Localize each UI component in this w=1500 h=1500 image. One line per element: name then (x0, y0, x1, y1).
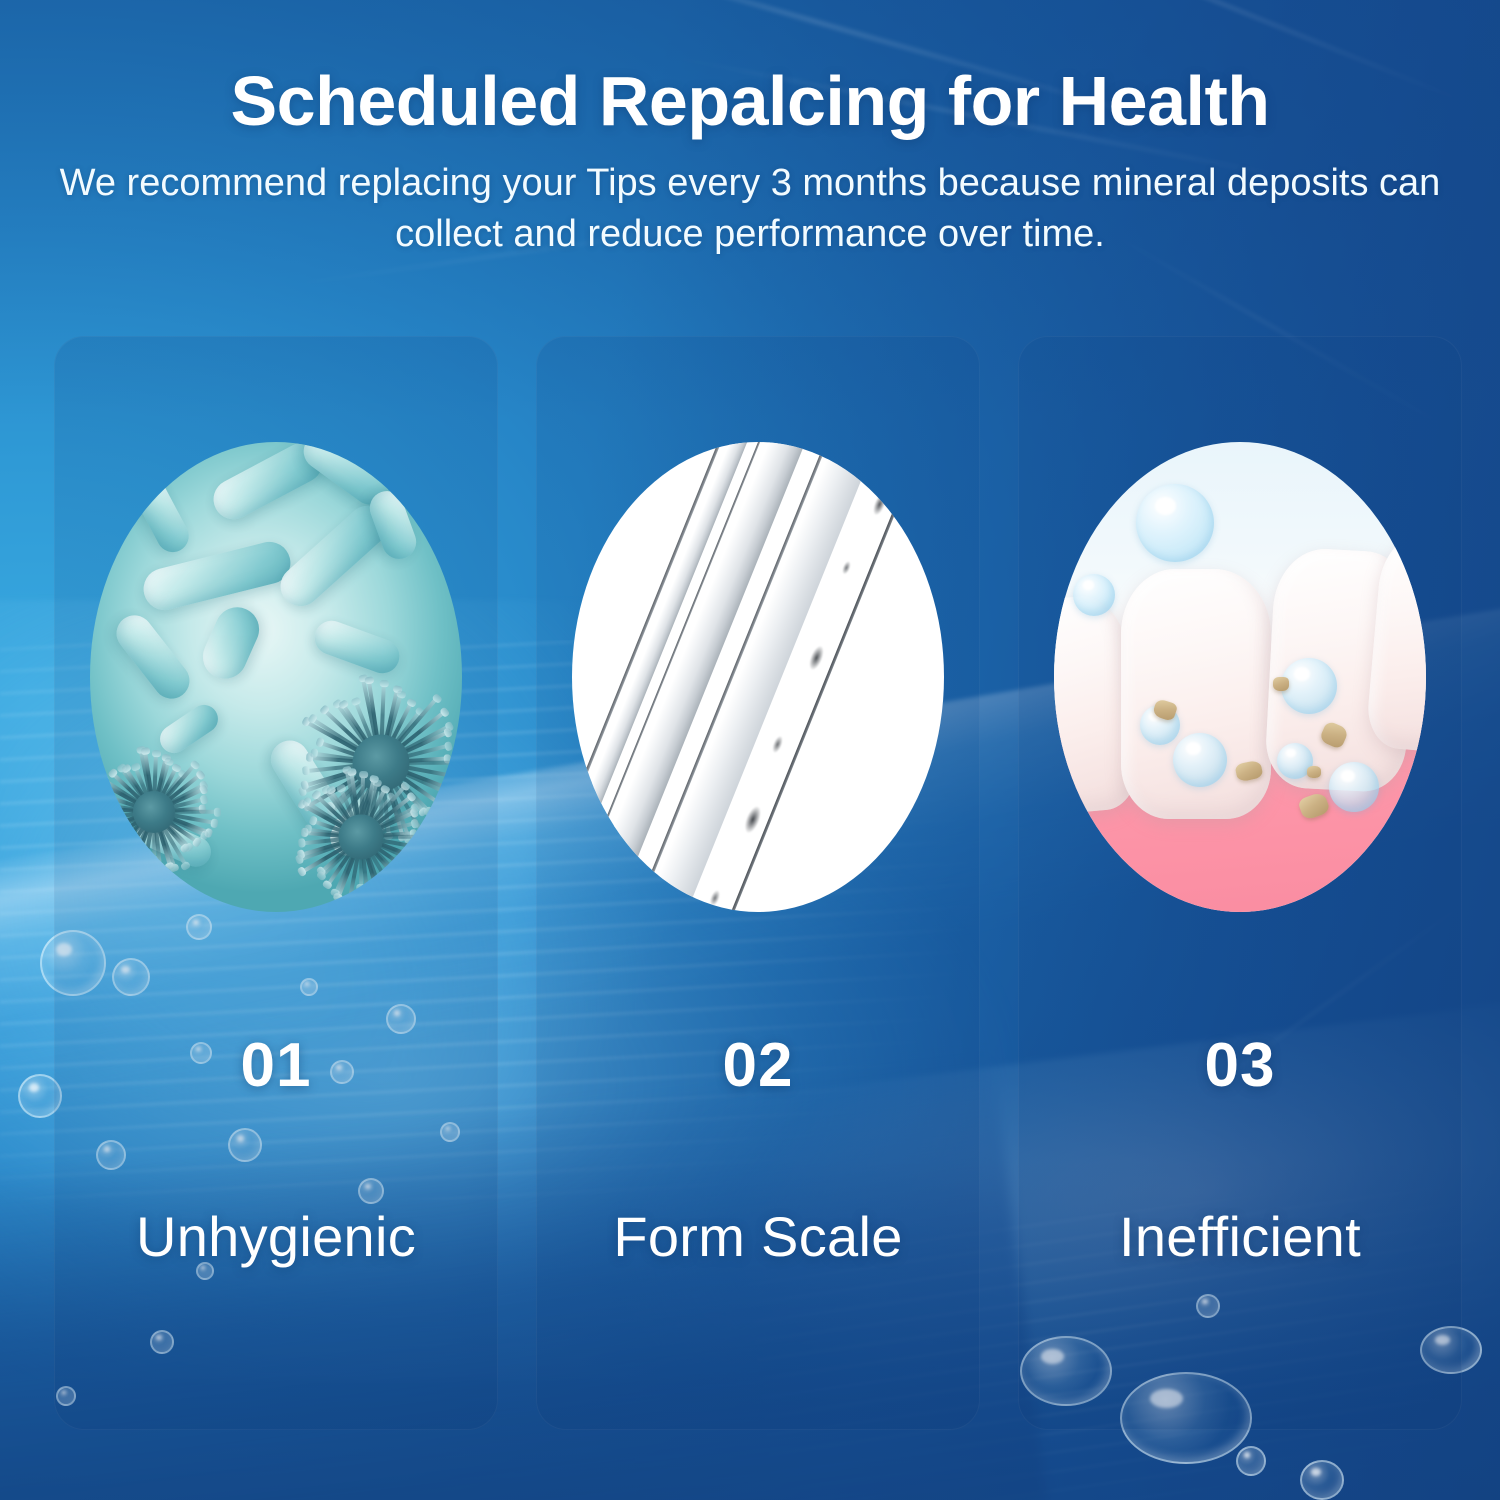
water-bubble (1073, 574, 1115, 616)
card-number: 03 (1018, 1030, 1462, 1101)
water-bubble (1281, 658, 1337, 714)
virus-particle-small (90, 742, 224, 882)
header: Scheduled Repalcing for Health We recomm… (0, 0, 1500, 260)
card-label-form-scale: Form Scale (536, 1204, 980, 1269)
food-debris (1273, 677, 1289, 691)
page-subtitle: We recommend replacing your Tips every 3… (55, 158, 1445, 260)
food-debris (1307, 766, 1321, 778)
mineral-scale-tube-image (572, 442, 944, 912)
card-number: 02 (536, 1030, 980, 1101)
water-bubble (1329, 762, 1379, 812)
card-number: 01 (54, 1030, 498, 1101)
bacteria-microbes-image (90, 442, 462, 912)
card-label-unhygienic: Unhygienic (54, 1204, 498, 1269)
feature-card-form-scale[interactable]: 02 Form Scale (536, 336, 980, 1430)
feature-card-list: 01 Unhygienic 02 Form Scale (54, 336, 1462, 1430)
water-bubble (1136, 484, 1214, 562)
infographic-stage: Scheduled Repalcing for Health We recomm… (0, 0, 1500, 1500)
feature-card-unhygienic[interactable]: 01 Unhygienic (54, 336, 498, 1430)
virus-particle-lower (286, 762, 436, 912)
card-label-inefficient: Inefficient (1018, 1204, 1462, 1269)
teeth-gums-bubbles-image (1054, 442, 1426, 912)
page-title: Scheduled Repalcing for Health (0, 66, 1500, 136)
feature-card-inefficient[interactable]: 03 Inefficient (1018, 336, 1462, 1430)
